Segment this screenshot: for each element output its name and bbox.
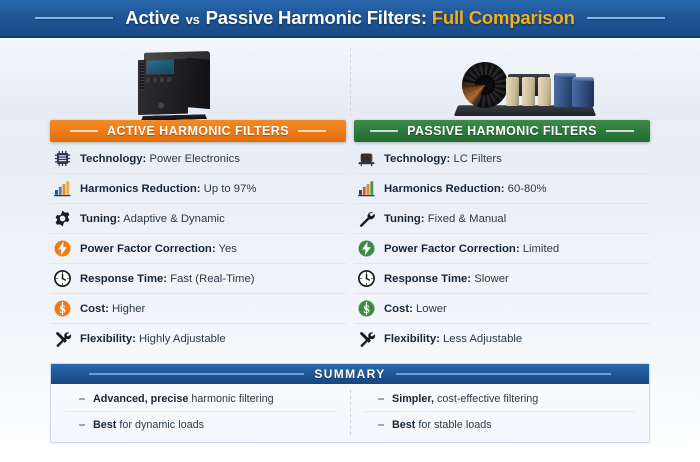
chip-icon bbox=[52, 149, 72, 169]
feature-row: Technology: LC Filters bbox=[354, 144, 650, 174]
title-vs: vs bbox=[185, 12, 201, 27]
feature-row: Flexibility: Highly Adjustable bbox=[50, 324, 346, 354]
summary-item: Simpler, cost-effective filtering bbox=[364, 387, 635, 412]
clock-icon bbox=[52, 269, 72, 289]
feature-row: Flexibility: Less Adjustable bbox=[354, 324, 650, 354]
feature-value: Fast (Real-Time) bbox=[170, 273, 254, 285]
page-title: Active vs Passive Harmonic Filters: Full… bbox=[125, 7, 574, 29]
summary-text-bold: Advanced, precise bbox=[93, 393, 188, 405]
feature-value: LC Filters bbox=[453, 153, 501, 165]
tools-icon bbox=[356, 329, 376, 349]
feature-row: Response Time: Slower bbox=[354, 264, 650, 294]
dollar-icon: S bbox=[52, 299, 72, 319]
summary-header: SUMMARY bbox=[51, 364, 649, 384]
column-title-passive: PASSIVE HARMONIC FILTERS bbox=[407, 124, 597, 138]
column-header-rule-right bbox=[606, 130, 634, 132]
bar-chart-icon bbox=[52, 179, 72, 199]
feature-label: Harmonics Reduction: bbox=[384, 183, 505, 195]
summary-text-rest: for stable loads bbox=[415, 419, 491, 431]
bullet-icon bbox=[378, 424, 384, 426]
bullet-icon bbox=[79, 398, 85, 400]
feature-label: Power Factor Correction: bbox=[384, 243, 520, 255]
product-photo-band bbox=[0, 38, 700, 120]
page-header: Active vs Passive Harmonic Filters: Full… bbox=[0, 0, 700, 38]
feature-row: Harmonics Reduction: Up to 97% bbox=[50, 174, 346, 204]
feature-text: Tuning: Adaptive & Dynamic bbox=[80, 213, 225, 225]
feature-text: Technology: Power Electronics bbox=[80, 153, 240, 165]
summary-item: Best for dynamic loads bbox=[65, 412, 336, 437]
feature-value: Highly Adjustable bbox=[139, 333, 226, 345]
feature-text: Technology: LC Filters bbox=[384, 153, 502, 165]
feature-value: Higher bbox=[112, 303, 145, 315]
summary-column-passive: Simpler, cost-effective filtering Best f… bbox=[350, 387, 649, 437]
feature-label: Technology: bbox=[80, 153, 146, 165]
feature-value: Slower bbox=[474, 273, 509, 285]
feature-value: Less Adjustable bbox=[443, 333, 522, 345]
bar-chart-icon bbox=[356, 179, 376, 199]
active-filter-cabinet-image bbox=[138, 51, 212, 117]
feature-label: Tuning: bbox=[384, 213, 425, 225]
summary-item: Advanced, precise harmonic filtering bbox=[65, 387, 336, 412]
feature-label: Tuning: bbox=[80, 213, 121, 225]
bolt-icon bbox=[356, 239, 376, 259]
feature-label: Cost: bbox=[384, 303, 413, 315]
summary-text-bold: Best bbox=[392, 419, 415, 431]
passive-product-photo bbox=[350, 38, 700, 120]
feature-value: Lower bbox=[416, 303, 447, 315]
summary-text: Best for dynamic loads bbox=[93, 419, 204, 431]
summary-text: Best for stable loads bbox=[392, 419, 492, 431]
bullet-icon bbox=[79, 424, 85, 426]
feature-text: Power Factor Correction: Yes bbox=[80, 243, 237, 255]
column-passive: PASSIVE HARMONIC FILTERS bbox=[354, 120, 650, 354]
summary-body: Advanced, precise harmonic filtering Bes… bbox=[51, 384, 649, 442]
feature-label: Response Time: bbox=[80, 273, 167, 285]
feature-text: Cost: Lower bbox=[384, 303, 447, 315]
feature-row: S Cost: Higher bbox=[50, 294, 346, 324]
summary-text-rest: harmonic filtering bbox=[188, 393, 273, 405]
title-main: Active bbox=[125, 7, 179, 28]
feature-label: Flexibility: bbox=[80, 333, 136, 345]
feature-list-passive: Technology: LC Filters bbox=[354, 144, 650, 354]
header-rule-right bbox=[587, 17, 665, 19]
column-header-rule-right bbox=[298, 130, 326, 132]
feature-value: Limited bbox=[523, 243, 559, 255]
tools-icon bbox=[52, 329, 72, 349]
feature-text: Power Factor Correction: Limited bbox=[384, 243, 559, 255]
bullet-icon bbox=[378, 398, 384, 400]
summary-text: Simpler, cost-effective filtering bbox=[392, 393, 538, 405]
summary-rule-left bbox=[89, 373, 304, 375]
feature-label: Response Time: bbox=[384, 273, 471, 285]
column-title-active: ACTIVE HARMONIC FILTERS bbox=[107, 124, 289, 138]
feature-text: Flexibility: Highly Adjustable bbox=[80, 333, 226, 345]
feature-text: Response Time: Slower bbox=[384, 273, 509, 285]
summary-title: SUMMARY bbox=[314, 367, 385, 381]
summary-rule-right bbox=[396, 373, 611, 375]
feature-value: 60-80% bbox=[508, 183, 547, 195]
feature-label: Flexibility: bbox=[384, 333, 440, 345]
active-product-photo bbox=[0, 38, 350, 120]
summary-panel: SUMMARY Advanced, precise harmonic filte… bbox=[50, 363, 650, 443]
feature-row: Power Factor Correction: Yes bbox=[50, 234, 346, 264]
feature-text: Tuning: Fixed & Manual bbox=[384, 213, 506, 225]
column-header-rule-left bbox=[70, 130, 98, 132]
header-rule-left bbox=[35, 17, 113, 19]
feature-label: Power Factor Correction: bbox=[80, 243, 216, 255]
dollar-icon: S bbox=[356, 299, 376, 319]
summary-text: Advanced, precise harmonic filtering bbox=[93, 393, 274, 405]
clock-icon bbox=[356, 269, 376, 289]
feature-value: Up to 97% bbox=[204, 183, 257, 195]
summary-text-rest: cost-effective filtering bbox=[434, 393, 538, 405]
feature-value: Fixed & Manual bbox=[428, 213, 507, 225]
feature-text: Harmonics Reduction: 60-80% bbox=[384, 183, 547, 195]
bolt-icon bbox=[52, 239, 72, 259]
feature-value: Adaptive & Dynamic bbox=[123, 213, 225, 225]
summary-item: Best for stable loads bbox=[364, 412, 635, 437]
feature-label: Cost: bbox=[80, 303, 109, 315]
feature-label: Technology: bbox=[384, 153, 450, 165]
feature-row: Harmonics Reduction: 60-80% bbox=[354, 174, 650, 204]
summary-text-bold: Best bbox=[93, 419, 116, 431]
feature-row: Power Factor Correction: Limited bbox=[354, 234, 650, 264]
infographic-root: Active vs Passive Harmonic Filters: Full… bbox=[0, 0, 700, 462]
feature-list-active: Technology: Power Electronics bbox=[50, 144, 346, 354]
title-accent: Full Comparison bbox=[432, 7, 575, 28]
feature-row: Tuning: Adaptive & Dynamic bbox=[50, 204, 346, 234]
summary-column-active: Advanced, precise harmonic filtering Bes… bbox=[51, 387, 350, 437]
column-header-rule-left bbox=[370, 130, 398, 132]
summary-text-rest: for dynamic loads bbox=[116, 419, 204, 431]
feature-value: Power Electronics bbox=[149, 153, 239, 165]
column-active: ACTIVE HARMONIC FILTERS bbox=[50, 120, 346, 354]
feature-row: Response Time: Fast (Real-Time) bbox=[50, 264, 346, 294]
feature-text: Cost: Higher bbox=[80, 303, 145, 315]
feature-text: Harmonics Reduction: Up to 97% bbox=[80, 183, 256, 195]
wrench-icon bbox=[356, 209, 376, 229]
feature-value: Yes bbox=[219, 243, 237, 255]
photo-column-divider bbox=[350, 48, 351, 116]
summary-text-bold: Simpler, bbox=[392, 393, 434, 405]
passive-filter-board-image bbox=[450, 51, 600, 117]
gear-icon bbox=[52, 209, 72, 229]
feature-text: Flexibility: Less Adjustable bbox=[384, 333, 522, 345]
column-header-passive: PASSIVE HARMONIC FILTERS bbox=[354, 120, 650, 142]
feature-text: Response Time: Fast (Real-Time) bbox=[80, 273, 255, 285]
title-mid: Passive Harmonic Filters: bbox=[206, 7, 427, 28]
column-header-active: ACTIVE HARMONIC FILTERS bbox=[50, 120, 346, 142]
comparison-section: ACTIVE HARMONIC FILTERS bbox=[0, 120, 700, 354]
feature-label: Harmonics Reduction: bbox=[80, 183, 201, 195]
feature-row: S Cost: Lower bbox=[354, 294, 650, 324]
feature-row: Tuning: Fixed & Manual bbox=[354, 204, 650, 234]
coil-icon bbox=[356, 149, 376, 169]
feature-row: Technology: Power Electronics bbox=[50, 144, 346, 174]
